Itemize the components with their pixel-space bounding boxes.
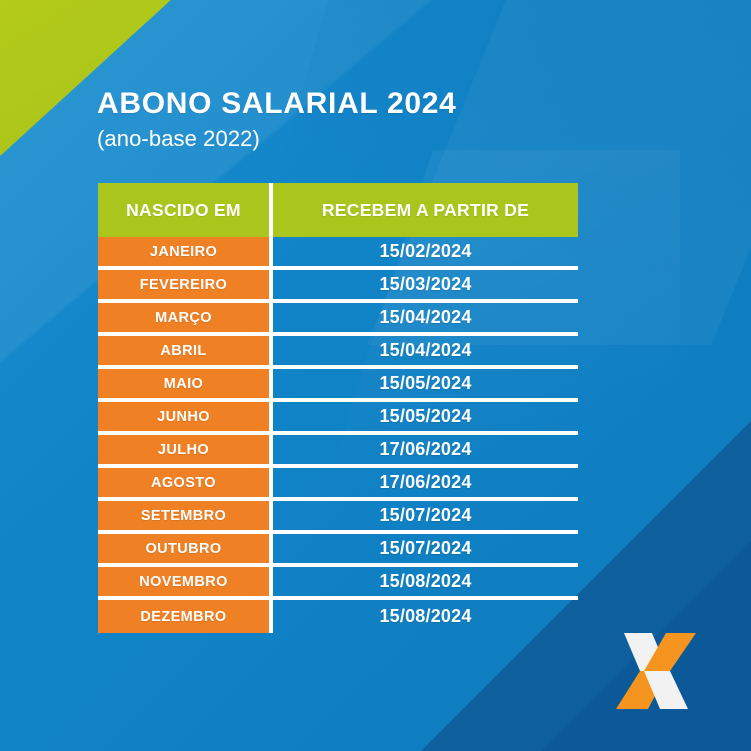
cell-month: SETEMBRO <box>98 501 273 534</box>
table-row: JULHO 17/06/2024 <box>98 435 578 468</box>
cell-month: FEVEREIRO <box>98 270 273 303</box>
poster-canvas: ABONO SALARIAL 2024 (ano-base 2022) NASC… <box>0 0 751 751</box>
cell-date: 15/05/2024 <box>273 402 578 435</box>
column-header-nascido-em: NASCIDO EM <box>98 183 273 237</box>
heading-block: ABONO SALARIAL 2024 (ano-base 2022) <box>97 88 657 152</box>
caixa-x-logo <box>608 625 704 717</box>
cell-date: 15/08/2024 <box>273 567 578 600</box>
table-row: OUTUBRO 15/07/2024 <box>98 534 578 567</box>
table-row: JANEIRO 15/02/2024 <box>98 237 578 270</box>
cell-month: JUNHO <box>98 402 273 435</box>
table-row: FEVEREIRO 15/03/2024 <box>98 270 578 303</box>
cell-month: JULHO <box>98 435 273 468</box>
table-row: JUNHO 15/05/2024 <box>98 402 578 435</box>
table-row: AGOSTO 17/06/2024 <box>98 468 578 501</box>
cell-month: DEZEMBRO <box>98 600 273 633</box>
cell-month: JANEIRO <box>98 237 273 270</box>
table-row: MARÇO 15/04/2024 <box>98 303 578 336</box>
cell-month: MAIO <box>98 369 273 402</box>
cell-date: 15/07/2024 <box>273 501 578 534</box>
page-title: ABONO SALARIAL 2024 <box>97 88 657 120</box>
cell-date: 15/03/2024 <box>273 270 578 303</box>
table-row: NOVEMBRO 15/08/2024 <box>98 567 578 600</box>
cell-date: 15/02/2024 <box>273 237 578 270</box>
cell-date: 15/05/2024 <box>273 369 578 402</box>
cell-month: OUTUBRO <box>98 534 273 567</box>
payment-schedule-table: NASCIDO EM RECEBEM A PARTIR DE JANEIRO 1… <box>98 183 578 633</box>
table-row: MAIO 15/05/2024 <box>98 369 578 402</box>
table-row: ABRIL 15/04/2024 <box>98 336 578 369</box>
table-row: SETEMBRO 15/07/2024 <box>98 501 578 534</box>
cell-month: ABRIL <box>98 336 273 369</box>
cell-month: AGOSTO <box>98 468 273 501</box>
page-subtitle: (ano-base 2022) <box>97 126 657 152</box>
cell-date: 15/08/2024 <box>273 600 578 633</box>
table-row: DEZEMBRO 15/08/2024 <box>98 600 578 633</box>
cell-date: 15/07/2024 <box>273 534 578 567</box>
cell-date: 17/06/2024 <box>273 435 578 468</box>
column-header-recebem-a-partir-de: RECEBEM A PARTIR DE <box>273 183 578 237</box>
cell-month: MARÇO <box>98 303 273 336</box>
cell-date: 15/04/2024 <box>273 336 578 369</box>
cell-month: NOVEMBRO <box>98 567 273 600</box>
cell-date: 15/04/2024 <box>273 303 578 336</box>
table-header-row: NASCIDO EM RECEBEM A PARTIR DE <box>98 183 578 237</box>
cell-date: 17/06/2024 <box>273 468 578 501</box>
